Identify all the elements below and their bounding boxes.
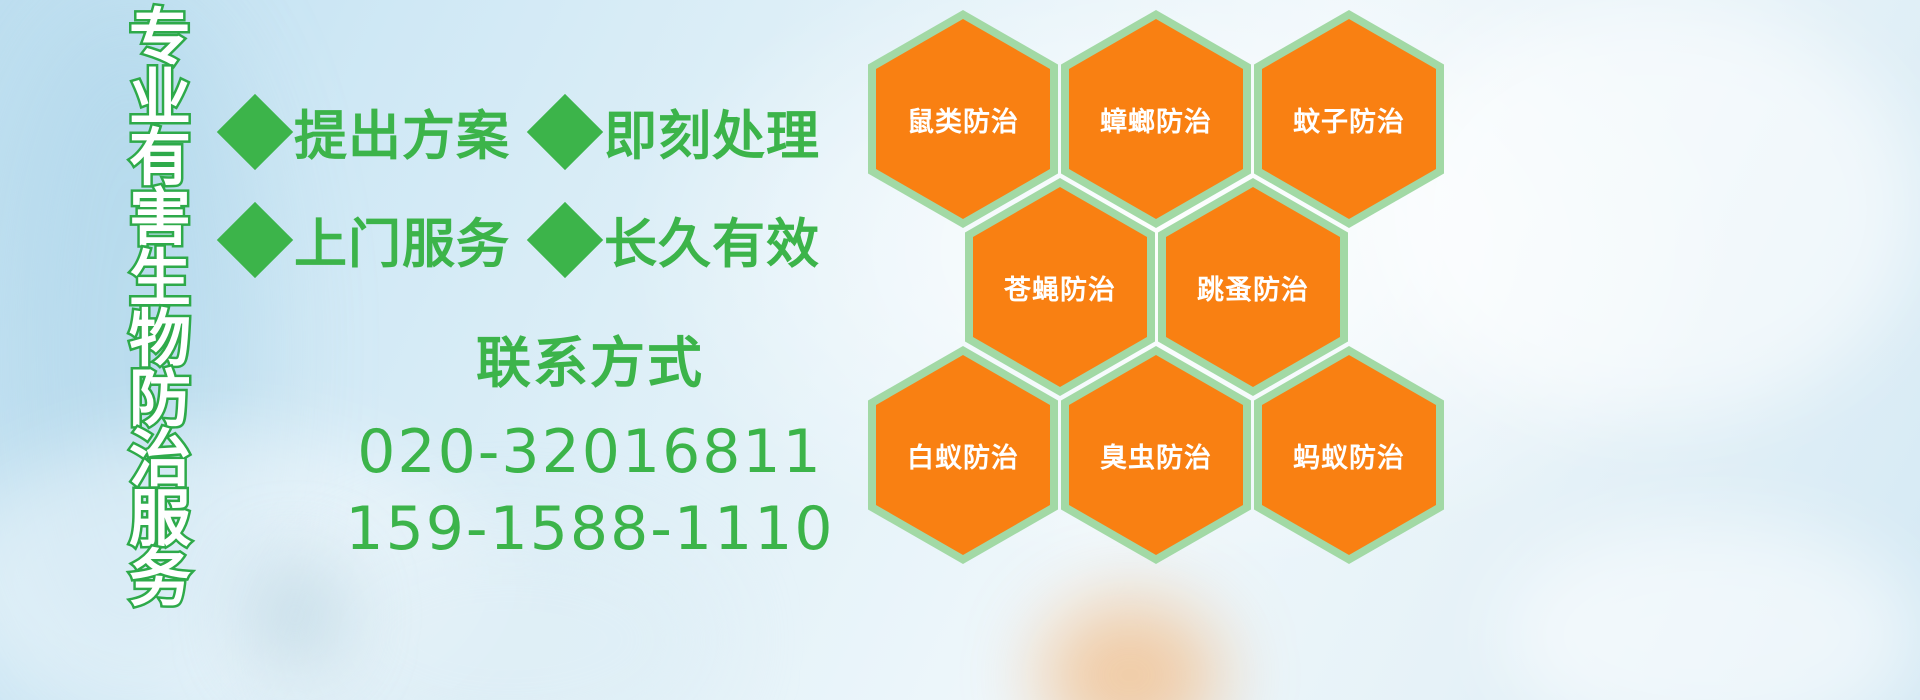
feature-item: 上门服务 bbox=[228, 202, 510, 278]
hex-inner: 苍蝇防治 bbox=[973, 187, 1147, 387]
vertical-headline-char: 业 bbox=[129, 68, 191, 128]
feature-item: 即刻处理 bbox=[538, 94, 820, 170]
vertical-headline-char: 务 bbox=[129, 549, 191, 609]
service-hex-label: 臭虫防治 bbox=[1100, 436, 1212, 475]
feature-row: 提出方案 即刻处理 bbox=[228, 78, 868, 186]
service-hex-label: 苍蝇防治 bbox=[1004, 268, 1116, 307]
diamond-bullet-icon bbox=[217, 202, 293, 278]
hex-inner: 臭虫防治 bbox=[1069, 355, 1243, 555]
hex-inner: 跳蚤防治 bbox=[1166, 187, 1340, 387]
vertical-headline-char: 服 bbox=[129, 489, 191, 549]
vertical-headline-char: 有 bbox=[129, 128, 191, 188]
vertical-headline-char: 防 bbox=[129, 369, 191, 429]
feature-label: 提出方案 bbox=[294, 94, 510, 170]
contact-phone-mobile[interactable]: 159-1588-1110 bbox=[300, 491, 880, 568]
vertical-headline-char: 害 bbox=[129, 188, 191, 248]
vertical-headline-char: 物 bbox=[129, 309, 191, 369]
background-blur-right bbox=[1380, 0, 1920, 420]
feature-item: 长久有效 bbox=[538, 202, 820, 278]
background-blur-speck bbox=[250, 560, 340, 670]
service-hex-label: 白蚁防治 bbox=[907, 436, 1019, 475]
contact-phone-landline[interactable]: 020-32016811 bbox=[300, 414, 880, 491]
background-blur-orange bbox=[1040, 600, 1220, 700]
feature-item: 提出方案 bbox=[228, 94, 510, 170]
vertical-headline-char: 生 bbox=[129, 249, 191, 309]
service-hex-grid: 鼠类防治 蟑螂防治 蚊子防治 苍蝇防治 跳蚤防治 白蚁防治 bbox=[858, 0, 1458, 560]
service-hex-label: 蚊子防治 bbox=[1293, 100, 1405, 139]
vertical-headline: 专 业 有 害 生 物 防 治 服 务 bbox=[108, 8, 212, 568]
background-blur-bottom-right bbox=[1500, 520, 1920, 700]
promo-banner: 专 业 有 害 生 物 防 治 服 务 提出方案 即刻处理 上门服务 bbox=[0, 0, 1920, 700]
feature-row: 上门服务 长久有效 bbox=[228, 186, 868, 294]
vertical-headline-char: 治 bbox=[129, 429, 191, 489]
diamond-bullet-icon bbox=[527, 94, 603, 170]
feature-label: 上门服务 bbox=[294, 202, 510, 278]
service-hex-label: 鼠类防治 bbox=[907, 100, 1019, 139]
service-hex-termite[interactable]: 白蚁防治 bbox=[868, 346, 1058, 564]
feature-list: 提出方案 即刻处理 上门服务 长久有效 bbox=[228, 78, 868, 294]
service-hex-rodent[interactable]: 鼠类防治 bbox=[868, 10, 1058, 228]
vertical-headline-char: 专 bbox=[129, 8, 191, 68]
hex-inner: 鼠类防治 bbox=[876, 19, 1050, 219]
service-hex-label: 蟑螂防治 bbox=[1100, 100, 1212, 139]
hex-inner: 蚊子防治 bbox=[1262, 19, 1436, 219]
hex-inner: 白蚁防治 bbox=[876, 355, 1050, 555]
feature-label: 长久有效 bbox=[604, 202, 820, 278]
service-hex-label: 蚂蚁防治 bbox=[1293, 436, 1405, 475]
diamond-bullet-icon bbox=[217, 94, 293, 170]
diamond-bullet-icon bbox=[527, 202, 603, 278]
hex-inner: 蚂蚁防治 bbox=[1262, 355, 1436, 555]
contact-block: 联系方式 020-32016811 159-1588-1110 bbox=[300, 318, 880, 568]
hex-inner: 蟑螂防治 bbox=[1069, 19, 1243, 219]
contact-title: 联系方式 bbox=[300, 318, 880, 398]
service-hex-label: 跳蚤防治 bbox=[1197, 268, 1309, 307]
feature-label: 即刻处理 bbox=[604, 94, 820, 170]
